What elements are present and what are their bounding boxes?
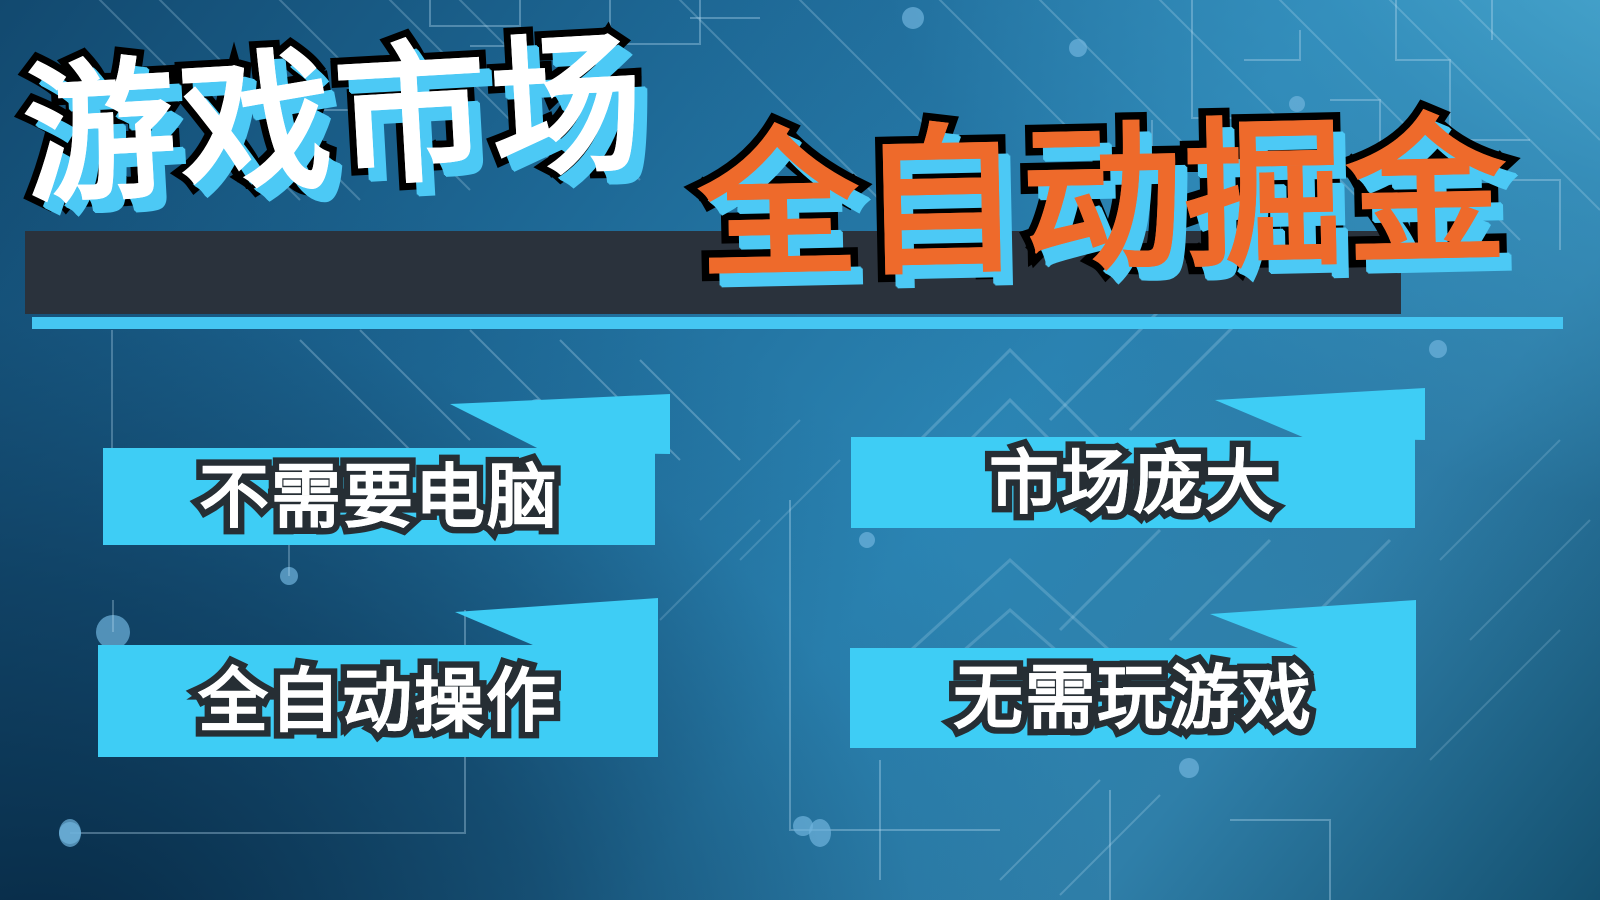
promo-banner: 游戏市场 游戏市场 全自动掘金 全自动掘金 不需要电脑 不需要电脑 市场庞大 市… — [0, 0, 1600, 900]
feature-label-3: 全自动操作 — [198, 666, 558, 736]
feature-box-2[interactable]: 市场庞大 市场庞大 — [851, 437, 1415, 528]
title-block: 游戏市场 游戏市场 全自动掘金 全自动掘金 — [0, 0, 1600, 360]
feature-box-1[interactable]: 不需要电脑 不需要电脑 — [103, 448, 655, 545]
title-underline-bar — [32, 317, 1563, 329]
feature-spike-4 — [1210, 600, 1416, 650]
feature-spike-3 — [455, 598, 658, 650]
feature-label-2: 市场庞大 — [989, 448, 1277, 518]
feature-box-4[interactable]: 无需玩游戏 无需玩游戏 — [850, 648, 1416, 748]
feature-label-4: 无需玩游戏 — [953, 663, 1313, 733]
feature-label-1: 不需要电脑 — [199, 462, 559, 532]
feature-box-3[interactable]: 全自动操作 全自动操作 — [98, 645, 658, 757]
feature-spike-2 — [1215, 388, 1425, 440]
title-line-1: 游戏市场 — [20, 27, 652, 214]
feature-spike-1 — [450, 394, 670, 454]
title-line-2: 全自动掘金 — [697, 111, 1510, 288]
